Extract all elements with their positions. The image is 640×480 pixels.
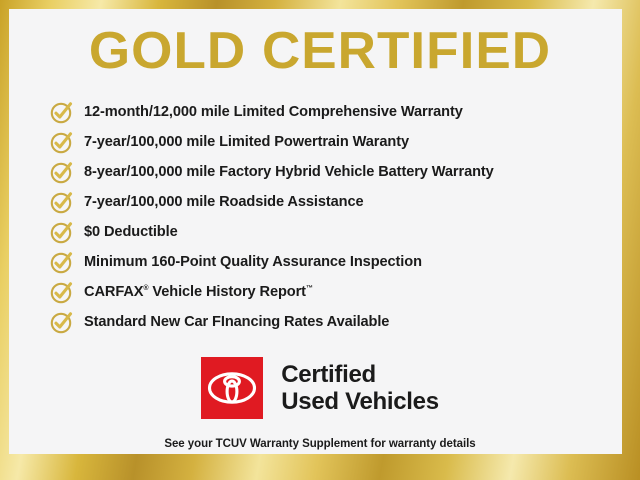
benefits-list: 12-month/12,000 mile Limited Comprehensi…: [49, 97, 630, 337]
benefit-label: 7-year/100,000 mile Limited Powertrain W…: [84, 134, 409, 150]
benefit-label-rest: Vehicle History Report: [148, 284, 305, 300]
benefit-label: 8-year/100,000 mile Factory Hybrid Vehic…: [84, 164, 494, 180]
toyota-emblem-icon: [201, 357, 263, 419]
page-title: GOLD CERTIFIED: [0, 22, 640, 80]
list-item: 7-year/100,000 mile Limited Powertrain W…: [49, 127, 630, 157]
list-item: $0 Deductible: [49, 217, 630, 247]
check-circle-icon: [49, 309, 75, 335]
check-circle-icon: [49, 159, 75, 185]
toyota-wordmark: Certified Used Vehicles: [281, 361, 439, 415]
benefit-label: CARFAX® Vehicle History Report™: [84, 284, 313, 300]
check-circle-icon: [49, 129, 75, 155]
check-circle-icon: [49, 99, 75, 125]
carfax-wordmark: CARFAX: [84, 284, 143, 300]
gold-certified-certificate: GOLD CERTIFIED 12-month/12,000 mile Limi…: [0, 0, 640, 480]
list-item: Minimum 160-Point Quality Assurance Insp…: [49, 247, 630, 277]
benefit-label: Standard New Car FInancing Rates Availab…: [84, 314, 389, 330]
toyota-wordmark-line1: Certified: [281, 361, 439, 388]
list-item: 12-month/12,000 mile Limited Comprehensi…: [49, 97, 630, 127]
benefit-label: 7-year/100,000 mile Roadside Assistance: [84, 194, 364, 210]
list-item: CARFAX® Vehicle History Report™: [49, 277, 630, 307]
benefit-label: 12-month/12,000 mile Limited Comprehensi…: [84, 104, 463, 120]
check-circle-icon: [49, 279, 75, 305]
list-item: 7-year/100,000 mile Roadside Assistance: [49, 187, 630, 217]
check-circle-icon: [49, 249, 75, 275]
toyota-wordmark-line2: Used Vehicles: [281, 388, 439, 415]
list-item: Standard New Car FInancing Rates Availab…: [49, 307, 630, 337]
footer-disclaimer: See your TCUV Warranty Supplement for wa…: [0, 438, 640, 450]
check-circle-icon: [49, 219, 75, 245]
benefit-label: Minimum 160-Point Quality Assurance Insp…: [84, 254, 422, 270]
list-item: 8-year/100,000 mile Factory Hybrid Vehic…: [49, 157, 630, 187]
benefit-label: $0 Deductible: [84, 224, 178, 240]
trademark-mark: ™: [306, 285, 313, 292]
toyota-certified-lockup: Certified Used Vehicles: [0, 357, 640, 419]
check-circle-icon: [49, 189, 75, 215]
